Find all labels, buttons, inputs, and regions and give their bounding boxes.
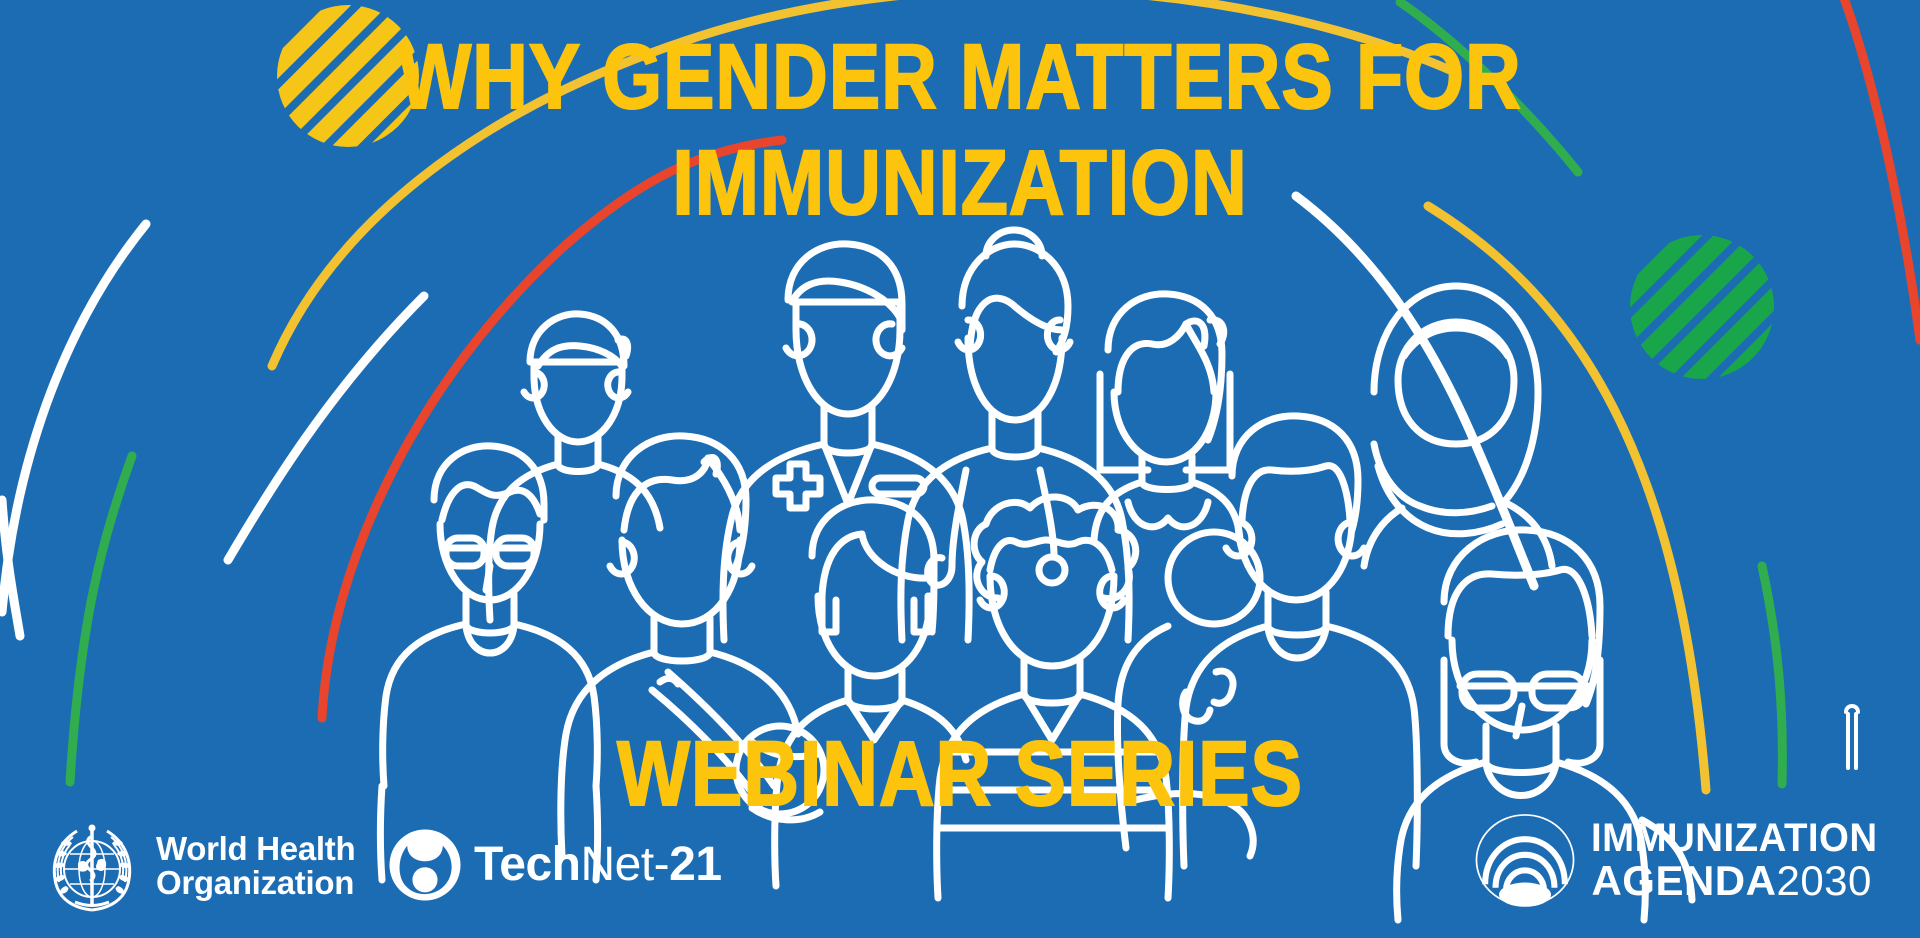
ia2030-agenda-text: AGENDA	[1591, 857, 1776, 904]
technet-logo-text: TechNet-21	[474, 841, 722, 889]
who-logo: World Health Organization	[42, 816, 355, 916]
immunization-agenda-2030-logo: IMMUNIZATION AGENDA2030	[1473, 808, 1890, 912]
person-woman-hijab	[1364, 286, 1552, 566]
who-line-2: Organization	[156, 866, 355, 900]
ia2030-line-2: AGENDA2030	[1591, 859, 1890, 903]
person-boy-back-left	[489, 314, 660, 620]
immunization-agenda-arcs-icon	[1473, 808, 1577, 912]
technet21-logo: TechNet-21	[388, 828, 722, 902]
technet-circle-icon	[388, 828, 462, 902]
ia2030-logo-text: IMMUNIZATION AGENDA2030	[1591, 817, 1890, 903]
logo-bar: World Health Organization TechNet-21	[0, 788, 1920, 938]
webinar-series-banner: WHY GENDER MATTERS FOR IMMUNIZATION WEBI…	[0, 0, 1920, 938]
technet-text-bold1: Tech	[474, 838, 580, 891]
who-logo-text: World Health Organization	[156, 832, 355, 900]
who-emblem-icon	[42, 816, 142, 916]
technet-text-thin: Net-	[580, 838, 669, 891]
who-line-1: World Health	[156, 832, 355, 866]
technet-text-bold2: 21	[669, 838, 721, 891]
ia2030-line-1: IMMUNIZATION	[1591, 817, 1878, 859]
ia2030-year-text: 2030	[1776, 857, 1871, 904]
